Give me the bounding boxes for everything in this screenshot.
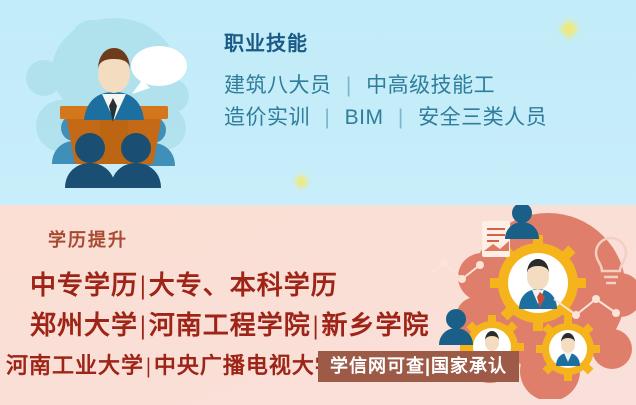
skill-item: 造价实训: [224, 106, 310, 129]
education-upgrade-title: 学历提升: [48, 231, 128, 249]
promo-banner: 职业技能 建筑八大员 | 中高级技能工 造价实训 | BIM | 安全三类人员: [0, 0, 636, 405]
verification-badge: 学信网可查|国家承认: [318, 351, 519, 382]
vocational-skills-title: 职业技能: [224, 34, 624, 54]
separator-icon: |: [390, 106, 412, 129]
education-line-2: 郑州大学|河南工程学院|新乡学院: [30, 305, 430, 342]
vocational-skills-line-1: 建筑八大员 | 中高级技能工: [224, 70, 624, 102]
education-line-1: 中专学历|大专、本科学历: [30, 265, 338, 302]
diamond-sparkle-icon: [294, 174, 310, 190]
divider-icon: |: [144, 353, 154, 378]
vocational-skills-panel: 职业技能 建筑八大员 | 中高级技能工 造价实训 | BIM | 安全三类人员: [0, 0, 636, 205]
skill-item: 建筑八大员: [224, 74, 332, 97]
skill-item: 中高级技能工: [366, 74, 495, 97]
separator-icon: |: [338, 74, 360, 97]
vocational-skills-text: 职业技能 建筑八大员 | 中高级技能工 造价实训 | BIM | 安全三类人员: [224, 34, 624, 134]
education-item: 大专、本科学历: [149, 271, 338, 300]
education-item: 郑州大学: [30, 311, 138, 340]
skill-item: 安全三类人员: [418, 106, 547, 129]
vocational-skills-line-2: 造价实训 | BIM | 安全三类人员: [224, 102, 624, 134]
education-line-3: 河南工业大学|中央广播电视大学: [6, 348, 338, 380]
divider-icon: |: [138, 271, 149, 300]
education-item: 河南工业大学: [6, 353, 144, 378]
skill-item: BIM: [345, 106, 384, 129]
education-item: 中专学历: [30, 271, 138, 300]
education-item: 新乡学院: [322, 311, 430, 340]
education-item: 中央广播电视大学: [154, 353, 338, 378]
speaker-podium-audience-icon: [14, 8, 214, 198]
divider-icon: |: [311, 311, 322, 340]
education-item: 河南工程学院: [149, 311, 311, 340]
divider-icon: |: [138, 311, 149, 340]
separator-icon: |: [316, 106, 338, 129]
education-upgrade-panel: 学历提升 中专学历|大专、本科学历 郑州大学|河南工程学院|新乡学院 河南工业大…: [0, 205, 636, 405]
